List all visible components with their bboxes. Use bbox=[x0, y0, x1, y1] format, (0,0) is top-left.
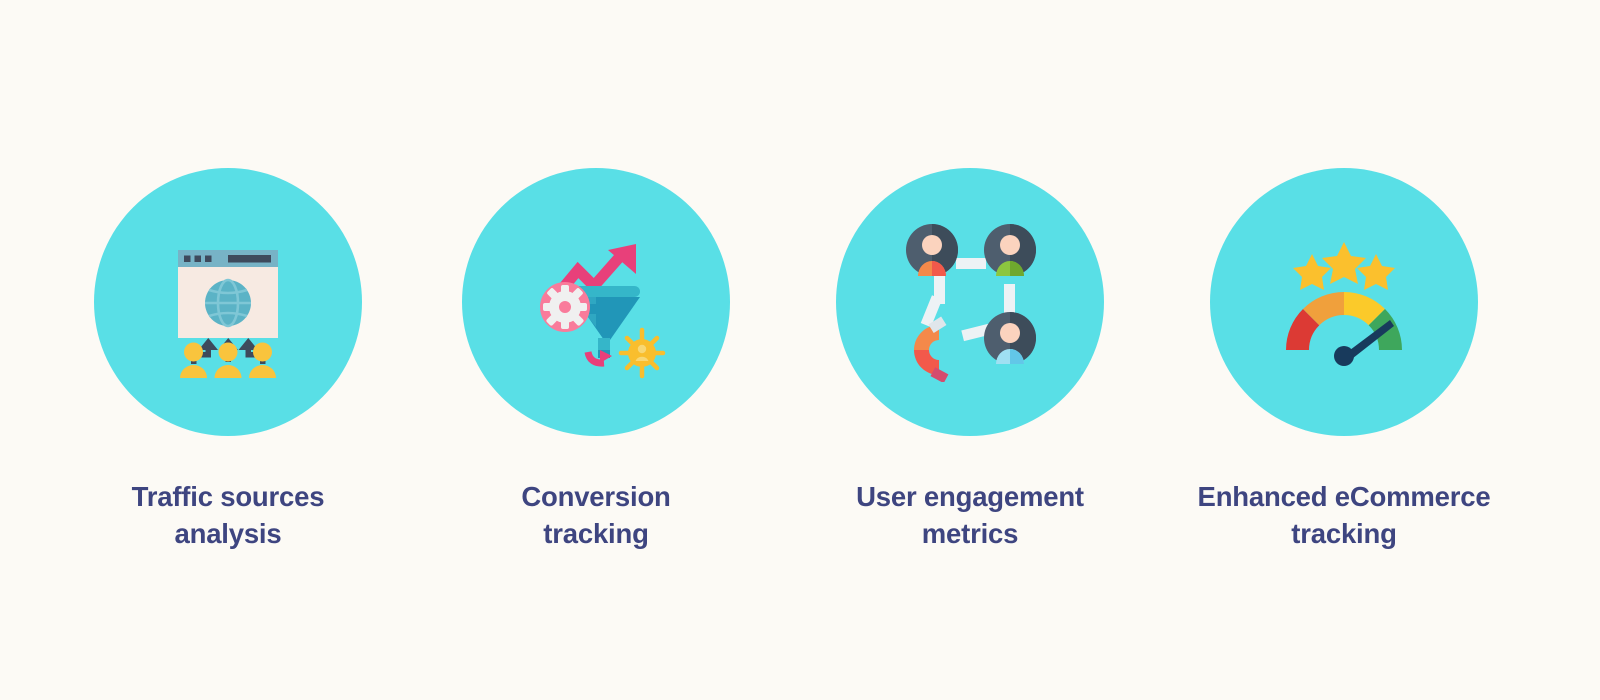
feature-card-user-engagement[interactable]: User engagement metrics bbox=[783, 0, 1157, 553]
feature-icons-board: Traffic sources analysis bbox=[0, 0, 1600, 700]
user-network-magnet-icon bbox=[890, 222, 1050, 382]
icon-circle-enhanced-ecommerce[interactable] bbox=[1210, 168, 1478, 436]
feature-card-traffic-sources[interactable]: Traffic sources analysis bbox=[41, 0, 415, 553]
icon-circle-traffic-sources[interactable] bbox=[94, 168, 362, 436]
feature-label-user-engagement: User engagement metrics bbox=[856, 478, 1084, 553]
browser-globe-traffic-icon bbox=[148, 222, 308, 382]
gauge-stars-rating-icon bbox=[1264, 222, 1424, 382]
feature-label-conversion-tracking: Conversion tracking bbox=[521, 478, 670, 553]
icon-circle-user-engagement[interactable] bbox=[836, 168, 1104, 436]
icon-circle-conversion-tracking[interactable] bbox=[462, 168, 730, 436]
features-row: Traffic sources analysis bbox=[0, 0, 1600, 700]
feature-label-traffic-sources: Traffic sources analysis bbox=[132, 478, 325, 553]
funnel-conversion-icon bbox=[516, 222, 676, 382]
feature-card-conversion-tracking[interactable]: Conversion tracking bbox=[409, 0, 783, 553]
star-group bbox=[1293, 242, 1395, 290]
feature-label-enhanced-ecommerce: Enhanced eCommerce tracking bbox=[1198, 478, 1491, 553]
feature-card-enhanced-ecommerce[interactable]: Enhanced eCommerce tracking bbox=[1157, 0, 1531, 553]
